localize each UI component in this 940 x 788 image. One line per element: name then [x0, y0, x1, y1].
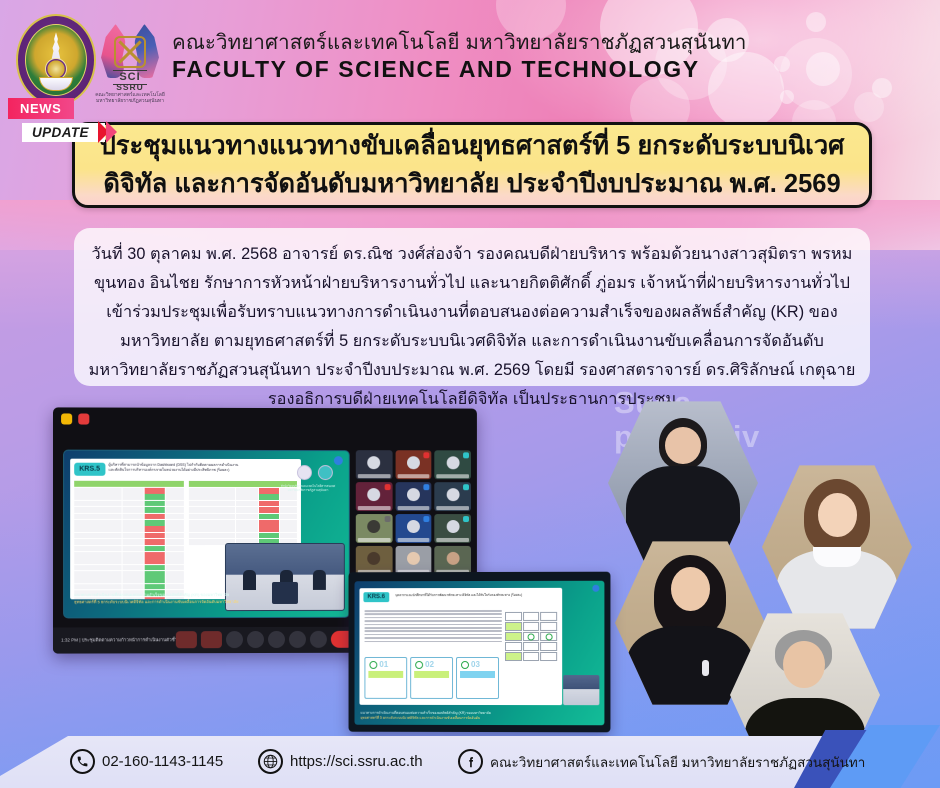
page-header: SCI SSRU คณะวิทยาศาสตร์และเทคโนโลยี มหาว…: [0, 0, 940, 110]
more-options-button[interactable]: [310, 631, 327, 648]
table-row: [188, 520, 297, 526]
participant-tile[interactable]: [356, 450, 392, 479]
table-row: [74, 520, 183, 526]
double-chevron-right-icon: [101, 121, 117, 143]
check-circle-icon: [415, 661, 423, 669]
seal-icon-left: [297, 465, 312, 480]
poster-canvas: SCI SSRU คณะวิทยาศาสตร์และเทคโนโลยี มหาว…: [0, 0, 940, 788]
step-card: 03: [456, 657, 499, 699]
table-row: [188, 494, 297, 500]
footer-phone-item: 02-160-1143-1145: [70, 749, 223, 774]
slide-body-lines: [364, 610, 502, 644]
footer-website-text: https://sci.ssru.ac.th: [290, 753, 423, 770]
screen-share-region-second: KRS.6 บุคลากรและนักศึกษาที่ได้รับการพัฒน…: [354, 581, 604, 726]
participant-tile[interactable]: [395, 546, 431, 575]
table-row: [188, 501, 297, 507]
table-row: [188, 507, 297, 513]
university-seal-icon: [16, 14, 96, 106]
banner-line-2: ดิจิทัล และการจัดอันดับมหาวิทยาลัย ประจำ…: [103, 165, 840, 203]
globe-icon: [258, 749, 283, 774]
table-row: [74, 558, 183, 564]
record-button[interactable]: [289, 631, 306, 648]
screen-share-region: KRS.5 ผู้บริหารที่สามารถนำข้อมูลจาก Dash…: [63, 450, 350, 619]
step-card: 02: [410, 657, 453, 699]
slide-seal-caption: สำนักวิทยบริการและเทคโนโลยีสารสนเทศมหาวิ…: [273, 484, 343, 492]
slide-footer-text-second: แนวทางการดำเนินงานที่ตอบสนองต่อความสำเร็…: [360, 711, 598, 721]
slide-krs-badge: KRS.5: [74, 463, 105, 476]
header-english-title: FACULTY OF SCIENCE AND TECHNOLOGY: [172, 56, 700, 83]
share-indicator-icon: [334, 456, 343, 465]
slide-heading-second: บุคลากรและนักศึกษาที่ได้รับการพัฒนาทักษะ…: [395, 593, 558, 598]
presenter-camera-tile-second: [563, 675, 599, 705]
app-icon-red: [78, 413, 89, 424]
footer-facebook-text: คณะวิทยาศาสตร์และเทคโนโลยี มหาวิทยาลัยรา…: [490, 751, 865, 773]
participant-tile[interactable]: [356, 514, 392, 543]
slide-org-seals: [297, 465, 333, 480]
facebook-icon: [458, 749, 483, 774]
window-app-icons: [61, 413, 89, 424]
slide-footer-text: แนวทางการดำเนินงานที่ตอบสนองต่อความสำเร็…: [70, 589, 343, 611]
footer-bar: 02-160-1143-1145 https://sci.ssru.ac.th …: [0, 730, 940, 788]
table-row: [74, 565, 183, 571]
table-row: [74, 507, 183, 513]
check-circle-icon: [461, 661, 469, 669]
participant-tile[interactable]: [395, 450, 431, 479]
slide-matrix-table: [505, 612, 557, 662]
table-row: [74, 539, 183, 545]
body-paragraph: วันที่ 30 ตุลาคม พ.ศ. 2568 อาจารย์ ดร.ณิ…: [88, 240, 856, 414]
share-indicator-icon-second: [592, 585, 599, 592]
sci-ssru-logo-icon: SCI SSRU คณะวิทยาศาสตร์และเทคโนโลยี มหาว…: [96, 20, 164, 106]
banner-line-1: ประชุมแนวทางแนวทางขับเคลื่อนยุทธศาสตร์ที…: [100, 127, 845, 165]
table-row: [74, 552, 183, 558]
presentation-slide-second: KRS.6 บุคลากรและนักศึกษาที่ได้รับการพัฒน…: [359, 588, 562, 705]
slide-krs-badge-second: KRS.6: [363, 592, 389, 602]
table-row: [74, 488, 183, 494]
table-row: [74, 546, 183, 552]
title-banner: ประชุมแนวทางแนวทางขับเคลื่อนยุทธศาสตร์ที…: [72, 122, 872, 208]
stop-video-button[interactable]: [201, 631, 222, 648]
participant-tile[interactable]: [395, 514, 431, 543]
update-label: UPDATE: [22, 123, 105, 142]
participant-tile[interactable]: [395, 482, 431, 511]
participant-tile[interactable]: [435, 450, 471, 479]
table-row: [74, 513, 183, 519]
phone-icon: [70, 749, 95, 774]
table-row: [188, 514, 297, 520]
mute-audio-button[interactable]: [176, 631, 197, 648]
footer-facebook-item[interactable]: คณะวิทยาศาสตร์และเทคโนโลยี มหาวิทยาลัยรา…: [458, 749, 865, 774]
table-row: [74, 501, 183, 507]
share-screen-button[interactable]: [268, 631, 285, 648]
table-row: [74, 533, 183, 539]
step-card: 01: [364, 657, 407, 699]
news-label: NEWS: [8, 98, 74, 119]
participants-button[interactable]: [226, 631, 243, 648]
slide-table-left: [74, 481, 183, 600]
app-icon-yellow: [61, 413, 72, 424]
participant-tile[interactable]: [356, 482, 392, 511]
ssru-logo-text: SSRU: [96, 82, 164, 92]
chat-button[interactable]: [247, 631, 264, 648]
participant-tile[interactable]: [356, 546, 392, 575]
table-row: [74, 494, 183, 500]
footer-website-item[interactable]: https://sci.ssru.ac.th: [258, 749, 423, 774]
footer-phone-text: 02-160-1143-1145: [102, 753, 223, 770]
header-thai-title: คณะวิทยาศาสตร์และเทคโนโลยี มหาวิทยาลัยรา…: [172, 26, 747, 59]
check-circle-icon: [369, 661, 377, 669]
table-row: [74, 526, 183, 532]
slide-step-cards: 01 02 03: [364, 657, 499, 699]
participant-tile[interactable]: [435, 482, 471, 511]
meeting-status-text: 1:32 PM | ประชุมติดตามความก้าวหน้าการดำเ…: [61, 636, 184, 643]
table-row: [188, 533, 297, 539]
news-update-badge: NEWS UPDATE: [8, 98, 117, 143]
zoom-meeting-screenshot-second: KRS.6 บุคลากรและนักศึกษาที่ได้รับการพัฒน…: [349, 572, 611, 733]
body-text-panel: วันที่ 30 ตุลาคม พ.ศ. 2568 อาจารย์ ดร.ณิ…: [74, 228, 870, 386]
slide-heading: ผู้บริหารที่สามารถนำข้อมูลจาก Dashboard …: [108, 463, 298, 474]
table-row: [74, 571, 183, 577]
seal-icon-right: [318, 465, 333, 480]
table-row: [188, 526, 297, 532]
participant-tile[interactable]: [435, 546, 471, 575]
participant-tile[interactable]: [435, 514, 471, 543]
table-row: [74, 578, 183, 584]
